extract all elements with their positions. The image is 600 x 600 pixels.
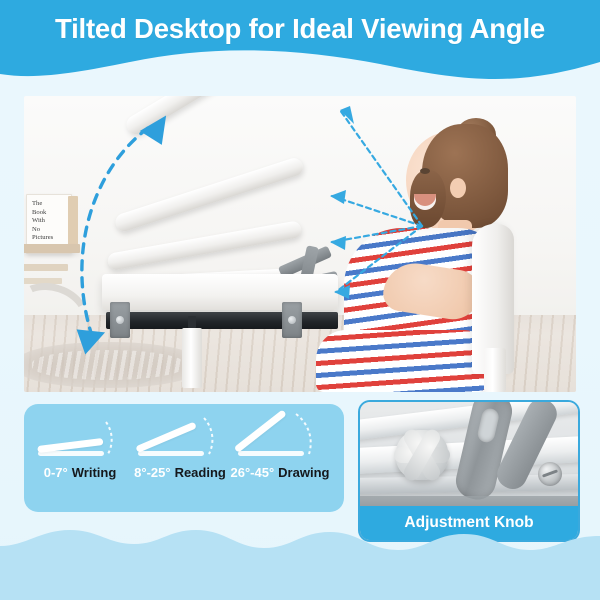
angle-label-reading: 8°-25°Reading: [130, 464, 230, 482]
angle-name-writing: Writing: [72, 465, 117, 480]
angle-degrees-writing: 0-7°: [44, 465, 68, 480]
adjustment-knob-part: [396, 430, 448, 480]
angle-icon-drawing: [230, 416, 330, 464]
screw-head: [538, 462, 562, 486]
angle-name-drawing: Drawing: [278, 465, 329, 480]
angle-icon-writing: [30, 416, 130, 464]
page-title: Tilted Desktop for Ideal Viewing Angle: [0, 12, 600, 46]
main-photo-card: TheBookWithNoPictures: [24, 96, 576, 392]
angle-label-drawing: 26°-45°Drawing: [230, 464, 330, 482]
angle-icon-reading: [130, 416, 230, 464]
angle-degrees-reading: 8°-25°: [134, 465, 170, 480]
bottom-cloud-decoration: [0, 510, 600, 600]
infographic-page: Tilted Desktop for Ideal Viewing Angle T…: [0, 0, 600, 600]
sight-line-arrows: [24, 96, 576, 392]
angle-degrees-drawing: 26°-45°: [231, 465, 275, 480]
tilt-angle-legend-card: 0-7°Writing 8°-25°Reading 26°-45°Drawing: [24, 404, 344, 512]
angle-icon-row: [24, 404, 344, 464]
angle-label-row: 0-7°Writing 8°-25°Reading 26°-45°Drawing: [24, 464, 344, 482]
header-banner: Tilted Desktop for Ideal Viewing Angle: [0, 0, 600, 92]
angle-name-reading: Reading: [175, 465, 226, 480]
angle-label-writing: 0-7°Writing: [30, 464, 130, 482]
